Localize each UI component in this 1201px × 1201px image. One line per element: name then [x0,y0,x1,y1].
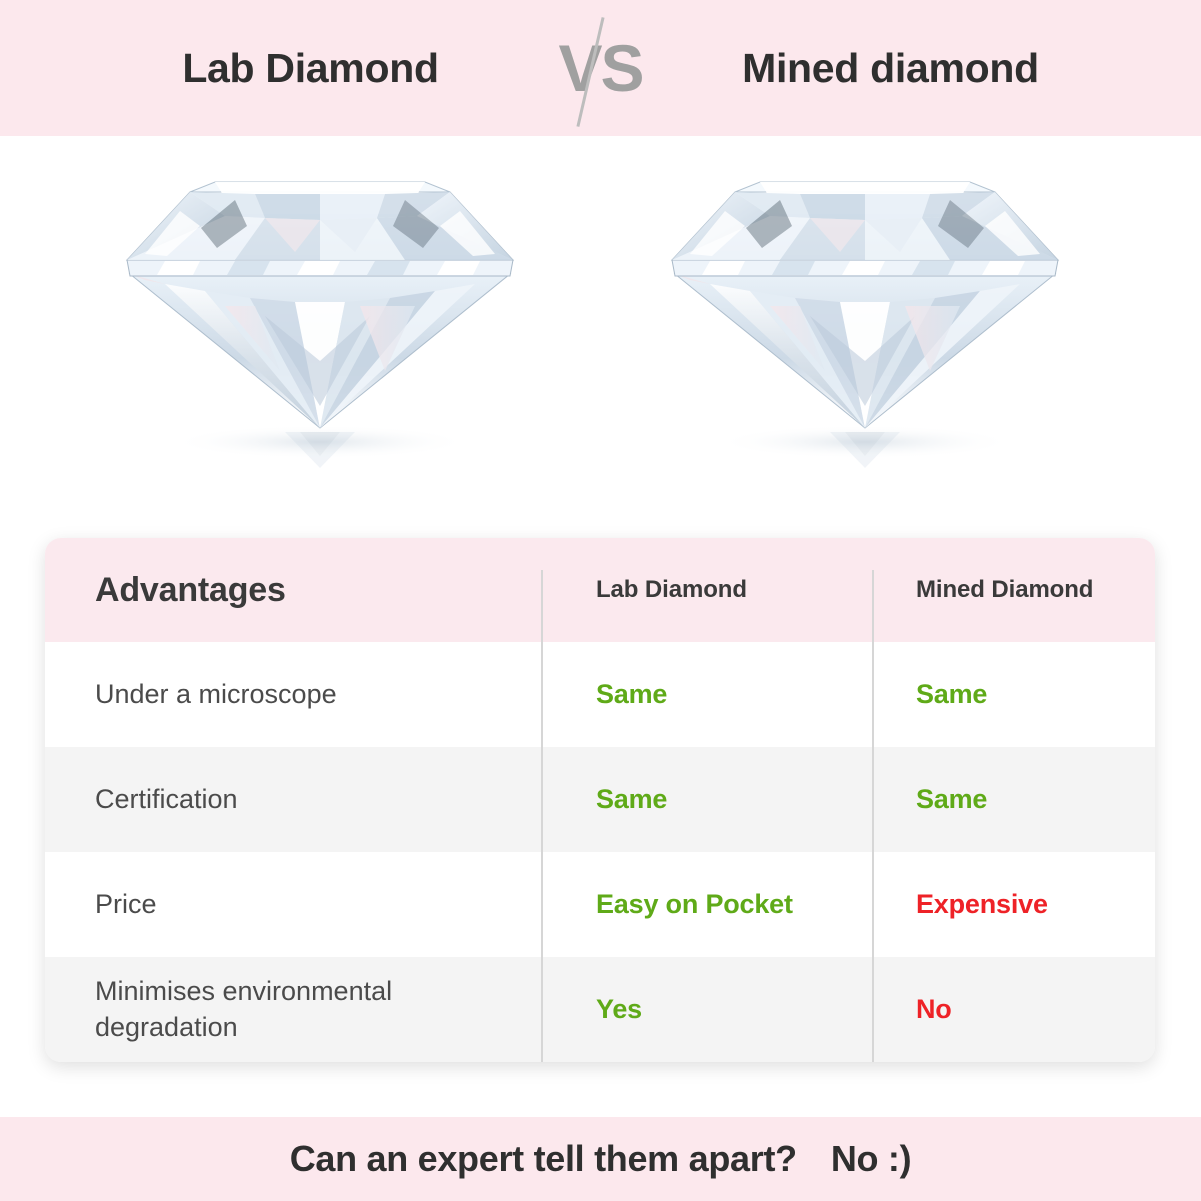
table-cell-feature: Certification [45,782,541,818]
table-cell-lab: Yes [541,994,872,1025]
table-row: Under a microscope Same Same [45,642,1155,747]
table-header-cell-advantages: Advantages [45,571,541,610]
table-cell-feature: Under a microscope [45,677,541,713]
table-row: Minimises environmental degradation Yes … [45,957,1155,1062]
footer-question: Can an expert tell them apart? [290,1138,797,1180]
table-row: Price Easy on Pocket Expensive [45,852,1155,957]
table-cell-lab: Easy on Pocket [541,889,872,920]
mined-value: Same [916,784,987,814]
mined-value: No [916,994,952,1024]
table-cell-feature: Price [45,887,541,923]
mined-value: Expensive [916,889,1048,919]
lab-value: Same [596,679,667,709]
feature-label: Under a microscope [95,679,337,709]
column-divider-1 [541,570,543,1062]
lab-diamond-image [105,156,535,486]
header-band: Lab Diamond VS Mined diamond [0,0,1201,136]
table-header-cell-lab: Lab Diamond [541,576,872,604]
footer-answer: No :) [831,1138,911,1180]
lab-value: Same [596,784,667,814]
table-header-advantages-label: Advantages [95,571,286,609]
table-cell-mined: Same [872,784,1155,815]
table-cell-mined: No [872,994,1155,1025]
mined-diamond-image [650,156,1080,486]
column-divider-2 [872,570,874,1062]
header-right-title: Mined diamond [656,45,1126,92]
table-header-row: Advantages Lab Diamond Mined Diamond [45,538,1155,642]
feature-label: Minimises environmental degradation [95,976,392,1042]
feature-label: Price [95,889,157,919]
versus-badge: VS [546,8,656,128]
header-left-title: Lab Diamond [76,45,546,92]
table-header-lab-label: Lab Diamond [596,576,747,603]
table-cell-lab: Same [541,784,872,815]
table-header-cell-mined: Mined Diamond [872,576,1155,604]
table-header-mined-label: Mined Diamond [916,576,1093,603]
table-cell-mined: Same [872,679,1155,710]
feature-label: Certification [95,784,238,814]
diamond-images-section [0,136,1201,530]
versus-label: VS [558,35,642,101]
table-cell-feature: Minimises environmental degradation [45,974,541,1046]
mined-diamond-svg [650,156,1080,486]
table-row: Certification Same Same [45,747,1155,852]
table-cell-mined: Expensive [872,889,1155,920]
lab-value: Easy on Pocket [596,889,793,919]
comparison-table-card: Advantages Lab Diamond Mined Diamond Und… [45,538,1155,1062]
lab-diamond-svg [105,156,535,486]
lab-value: Yes [596,994,642,1024]
footer-band: Can an expert tell them apart? No :) [0,1117,1201,1201]
mined-value: Same [916,679,987,709]
table-cell-lab: Same [541,679,872,710]
